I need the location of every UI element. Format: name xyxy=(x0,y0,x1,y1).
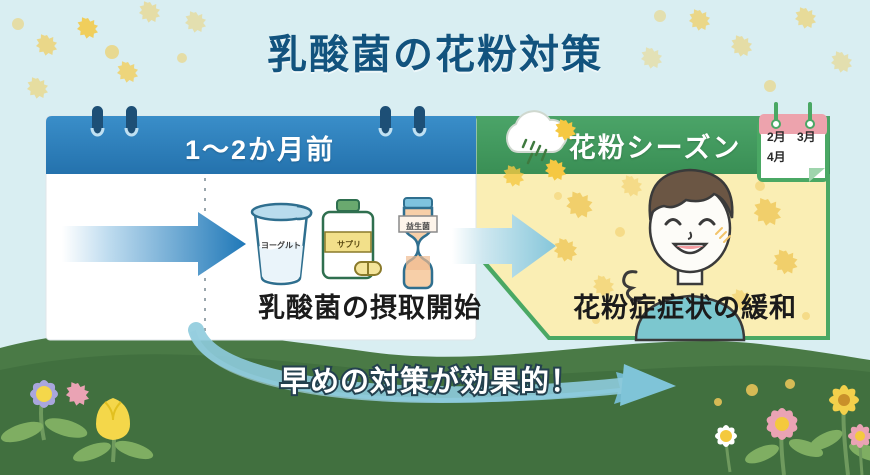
infographic-canvas: 乳酸菌の花粉対策 1〜2か月前 花粉シーズン 乳酸菌の摂取開始 花粉症症状の緩和… xyxy=(0,0,870,475)
calendar-month-1: 2月 xyxy=(767,128,786,145)
page-title: 乳酸菌の花粉対策 xyxy=(0,22,870,80)
left-panel-caption: 乳酸菌の摂取開始 xyxy=(210,286,530,325)
calendar-month-3: 4月 xyxy=(767,148,786,165)
right-panel-caption: 花粉症症状の緩和 xyxy=(540,286,830,325)
left-panel-header-label: 1〜2か月前 xyxy=(60,128,460,167)
yogurt-label: ヨーグルト xyxy=(258,240,304,251)
calendar-month-2: 3月 xyxy=(797,128,816,145)
supplement-label: サプリ xyxy=(328,239,370,250)
right-panel-header-label: 花粉シーズン xyxy=(540,126,770,165)
bottom-banner-text: 早めの対策が効果的！ xyxy=(255,358,605,400)
supplement-pills xyxy=(355,262,381,275)
probiotic-label: 益生菌 xyxy=(398,221,438,232)
